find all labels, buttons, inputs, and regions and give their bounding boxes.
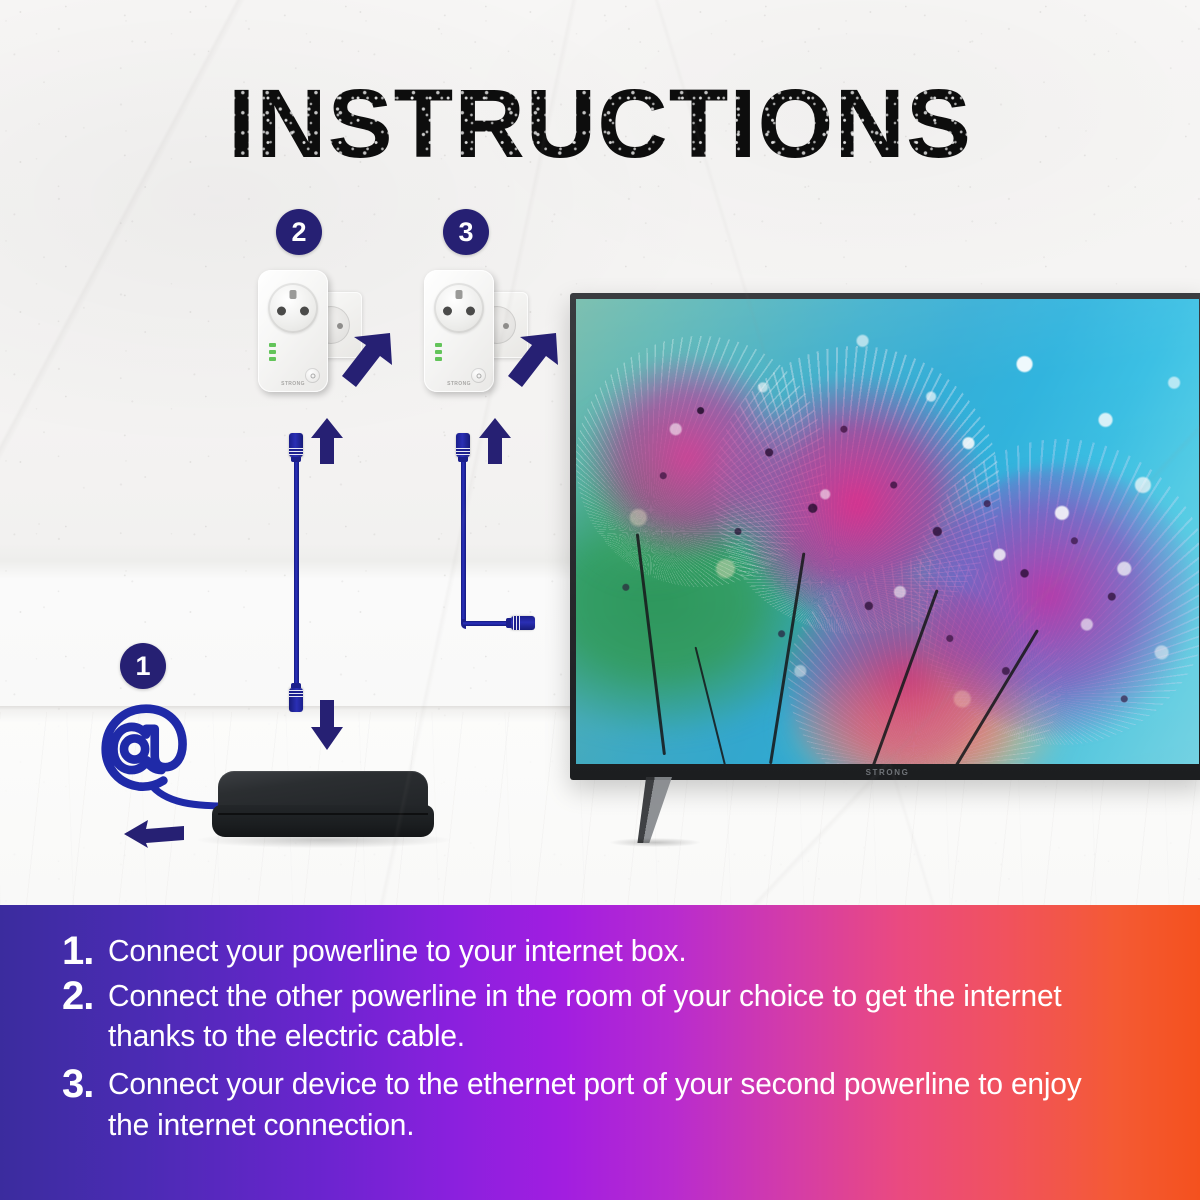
page-title-text: INSTRUCTIONS [228,69,972,180]
step-text-1: Connect your powerline to your internet … [108,931,1125,971]
tv-screen-artwork [576,299,1199,764]
earth-pin-b [456,290,463,299]
tv-screen [576,299,1199,764]
rj45-connector-top-2 [456,433,470,457]
step-badge-3: 3 [443,209,489,255]
page-title: INSTRUCTIONS [0,69,1200,180]
step-item-3: 3. Connect your device to the ethernet p… [62,1064,1162,1145]
adapter-body-b: STRONG [424,270,494,392]
adapter-leds-b [435,343,442,361]
rj45-connector-top-1 [289,433,303,457]
internet-box [212,771,434,839]
adapter-brand-b: STRONG [424,381,494,387]
adapter-leds-a [269,343,276,361]
arrow-left-icon [124,818,186,848]
tv-stand-leg [618,777,672,843]
rj45-connector-bottom-1 [289,688,303,712]
step-item-2: 2. Connect the other powerline in the ro… [62,976,1162,1057]
earth-pin-a [290,290,297,299]
step-item-1: 1. Connect your powerline to your intern… [62,931,1162,972]
tv-bezel: STRONG [570,293,1200,780]
arrow-up-cable-1-icon [310,418,344,464]
step-number-3: 3. [62,1064,108,1105]
adapter-body-a: STRONG [258,270,328,392]
step-text-2: Connect the other powerline in the room … [108,976,1125,1057]
step-number-1: 1. [62,931,108,972]
step-number-2: 2. [62,976,108,1017]
internet-box-seam [218,813,428,815]
step-badge-2: 2 [276,209,322,255]
internet-box-base [212,805,434,837]
television: STRONG [570,293,1200,780]
arrow-down-to-box-icon [310,700,344,750]
steps-panel: 1. Connect your powerline to your intern… [0,905,1200,1200]
arrow-into-adapter-b-icon [496,325,566,395]
scene-photo: INSTRUCTIONS [0,0,1200,905]
tv-brand-label: STRONG [866,768,910,777]
instruction-poster: INSTRUCTIONS [0,0,1200,1200]
arrow-into-adapter-a-icon [330,325,400,395]
rj45-connector-end-2 [511,616,535,630]
adapter-brand-a: STRONG [258,381,328,387]
tv-stand-shadow [610,838,700,847]
step-badge-1: 1 [120,643,166,689]
arrow-up-cable-2-icon [478,418,512,464]
step-text-3: Connect your device to the ethernet port… [108,1064,1125,1145]
